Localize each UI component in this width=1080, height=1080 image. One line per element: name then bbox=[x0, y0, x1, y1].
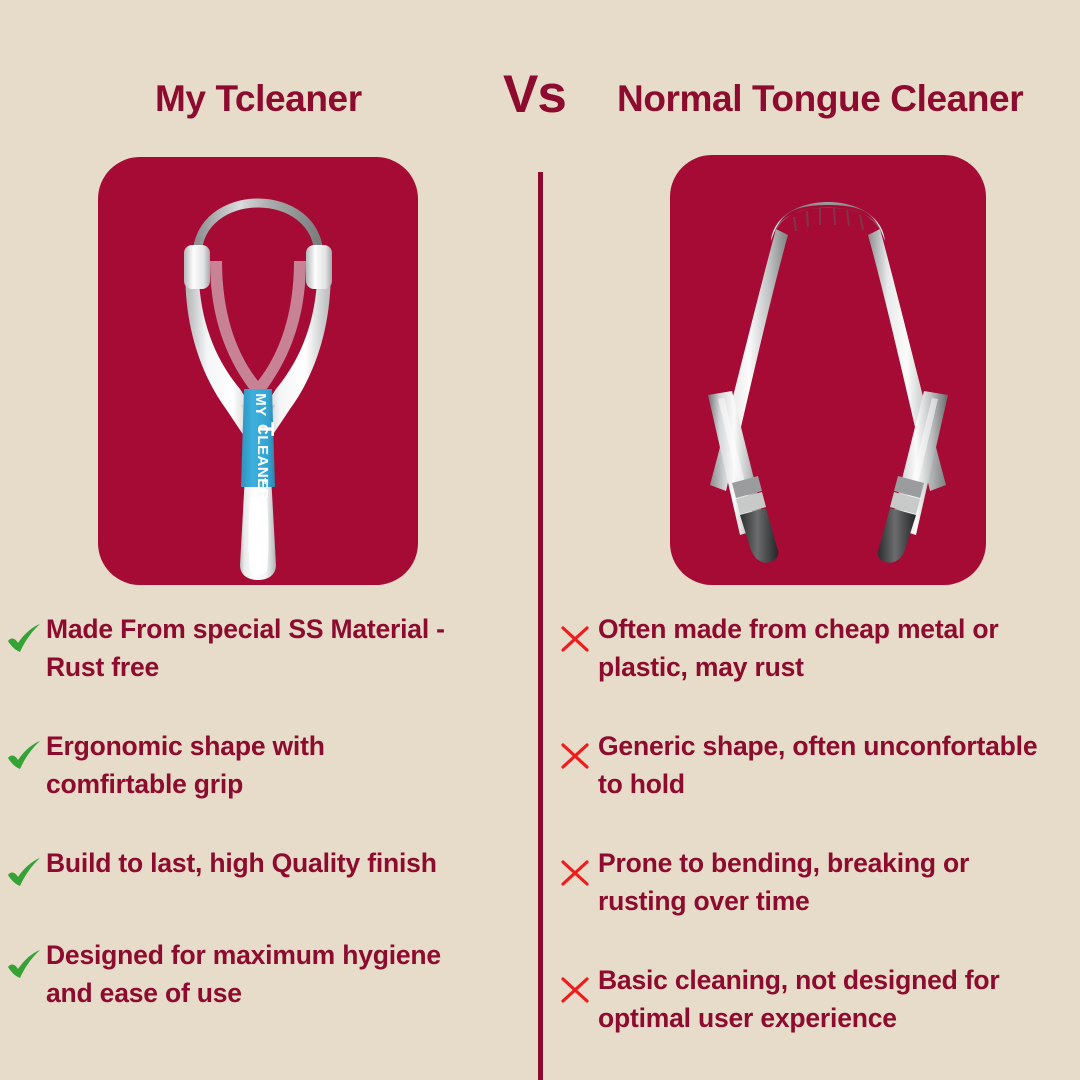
feature-label: Generic shape, often unconfortable to ho… bbox=[598, 725, 1058, 804]
feature-item: Ergonomic shape with comfirtable grip bbox=[0, 725, 520, 804]
feature-item: Often made from cheap metal or plastic, … bbox=[552, 608, 1080, 687]
cross-icon bbox=[552, 733, 598, 779]
feature-label: Designed for maximum hygiene and ease of… bbox=[46, 934, 446, 1013]
feature-item: Basic cleaning, not designed for optimal… bbox=[552, 959, 1080, 1038]
feature-item: Made From special SS Material - Rust fre… bbox=[0, 608, 520, 687]
check-icon bbox=[0, 942, 46, 988]
svg-text:CLEANER: CLEANER bbox=[254, 424, 271, 500]
check-icon bbox=[0, 616, 46, 662]
feature-item: Designed for maximum hygiene and ease of… bbox=[0, 934, 520, 1013]
svg-text:MY: MY bbox=[252, 393, 269, 417]
normal-tongue-cleaner-feature-list: Often made from cheap metal or plastic, … bbox=[552, 608, 1080, 1057]
check-icon bbox=[0, 733, 46, 779]
feature-label: Often made from cheap metal or plastic, … bbox=[598, 608, 1058, 687]
page-title-left: My Tcleaner bbox=[155, 78, 362, 120]
feature-label: Prone to bending, breaking or rusting ov… bbox=[598, 842, 1058, 921]
my-tcleaner-feature-list: Made From special SS Material - Rust fre… bbox=[0, 608, 520, 1033]
feature-label: Basic cleaning, not designed for optimal… bbox=[598, 959, 1058, 1038]
versus-label: Vs bbox=[503, 64, 566, 125]
feature-item: Build to last, high Quality finish bbox=[0, 842, 520, 896]
comparison-header: My Tcleaner Vs Normal Tongue Cleaner bbox=[0, 0, 1080, 150]
cross-icon bbox=[552, 616, 598, 662]
feature-label: Made From special SS Material - Rust fre… bbox=[46, 608, 446, 687]
svg-text:+: + bbox=[258, 477, 272, 484]
feature-label: Ergonomic shape with comfirtable grip bbox=[46, 725, 446, 804]
column-divider bbox=[538, 172, 543, 1080]
normal-tongue-cleaner-product-image bbox=[670, 155, 986, 585]
my-tcleaner-product-card: MY T CLEANER + bbox=[98, 157, 418, 585]
cross-icon bbox=[552, 967, 598, 1013]
cross-icon bbox=[552, 850, 598, 896]
page-title-right: Normal Tongue Cleaner bbox=[617, 78, 1023, 120]
my-tcleaner-product-image: MY T CLEANER + bbox=[98, 157, 418, 585]
feature-item: Generic shape, often unconfortable to ho… bbox=[552, 725, 1080, 804]
check-icon bbox=[0, 850, 46, 896]
feature-item: Prone to bending, breaking or rusting ov… bbox=[552, 842, 1080, 921]
normal-tongue-cleaner-product-card bbox=[670, 155, 986, 585]
feature-label: Build to last, high Quality finish bbox=[46, 842, 446, 882]
